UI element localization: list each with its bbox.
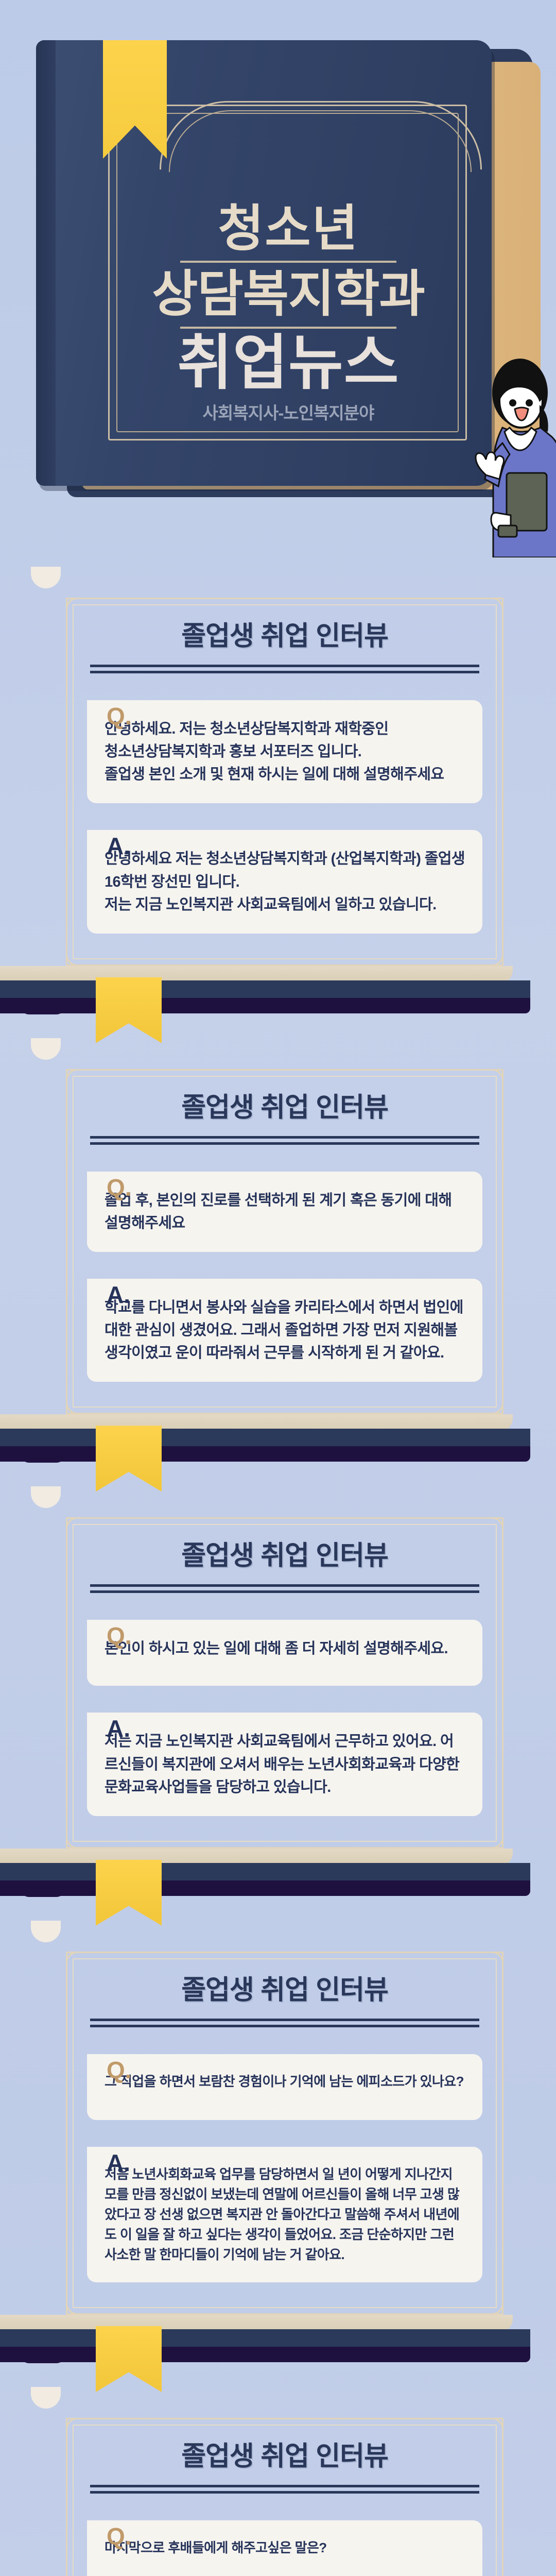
interview-sections: 졸업생 취업 인터뷰 Q. 안녕하세요. 저는 청소년상담복지학과 재학중인 청… xyxy=(0,556,556,2576)
section-frame: 졸업생 취업 인터뷰 Q. 그 직업을 하면서 보람찬 경험이나 기억에 남는 … xyxy=(66,1952,503,2315)
book-bottom xyxy=(0,2315,556,2377)
section-frame: 졸업생 취업 인터뷰 Q. 본인이 하시고 있는 일에 대해 좀 더 자세히 설… xyxy=(66,1517,503,1848)
book-bottom-cover-shadow xyxy=(0,2347,530,2362)
section-heading: 졸업생 취업 인터뷰 xyxy=(87,2442,482,2471)
interview-section: 졸업생 취업 인터뷰 Q. 졸업 후, 본인의 진로를 선택하게 된 계기 혹은… xyxy=(0,1028,556,1477)
interview-section: 졸업생 취업 인터뷰 Q. 본인이 하시고 있는 일에 대해 좀 더 자세히 설… xyxy=(0,1476,556,1910)
section-double-rule xyxy=(90,2019,479,2027)
answer-label: A. xyxy=(107,2151,130,2175)
book-bottom-cover-shadow xyxy=(0,1880,530,1896)
interview-section: 졸업생 취업 인터뷰 Q. 안녕하세요. 저는 청소년상담복지학과 재학중인 청… xyxy=(0,556,556,1028)
book-bottom-notch-top xyxy=(21,2329,65,2347)
question-label: Q. xyxy=(107,1624,132,1648)
book-bottom xyxy=(0,1849,556,1910)
frame-corner-top-left xyxy=(66,1517,91,1543)
section-heading: 졸업생 취업 인터뷰 xyxy=(87,622,482,651)
question-text: 안녕하세요. 저는 청소년상담복지학과 재학중인 청소년상담복지학과 홍보 서포… xyxy=(105,718,465,786)
question-label: Q. xyxy=(107,704,132,728)
frame-corner-top-right xyxy=(478,1069,503,1094)
frame-corner-bottom-left xyxy=(66,2290,91,2315)
answer-bubble: 학교를 다니면서 봉사와 실습을 카리타스에서 하면서 법인에 대한 관심이 생… xyxy=(87,1279,482,1382)
frame-corner-bottom-right xyxy=(478,941,503,966)
answer-bubble: 처음 노년사회화교육 업무를 담당하면서 일 년이 어떻게 지나간지 모를 만큼… xyxy=(87,2147,482,2282)
book-spine-notch xyxy=(31,1921,61,1942)
section-content: 졸업생 취업 인터뷰 Q. 안녕하세요. 저는 청소년상담복지학과 재학중인 청… xyxy=(66,556,503,966)
section-frame: 졸업생 취업 인터뷰 Q. 마지막으로 후배들에게 해주고싶은 말은? A. xyxy=(66,2418,503,2576)
frame-corner-top-left xyxy=(66,2418,91,2443)
section-content: 졸업생 취업 인터뷰 Q. 그 직업을 하면서 보람찬 경험이나 기억에 남는 … xyxy=(66,1910,503,2315)
question-text: 졸업 후, 본인의 진로를 선택하게 된 계기 혹은 동기에 대해 설명해주세요 xyxy=(105,1189,465,1234)
frame-corner-top-right xyxy=(478,1952,503,1977)
cover-divider-2 xyxy=(180,327,396,329)
frame-corner-top-right xyxy=(478,598,503,623)
section-frame: 졸업생 취업 인터뷰 Q. 안녕하세요. 저는 청소년상담복지학과 재학중인 청… xyxy=(66,598,503,966)
book-spine-notch xyxy=(31,567,61,588)
section-heading: 졸업생 취업 인터뷰 xyxy=(87,1093,482,1123)
answer-label: A. xyxy=(107,834,130,858)
book-bottom xyxy=(0,1414,556,1476)
question-bubble: 마지막으로 후배들에게 해주고싶은 말은? xyxy=(87,2520,482,2576)
frame-corner-bottom-left xyxy=(66,1389,91,1414)
frame-corner-top-right xyxy=(478,1517,503,1543)
question-bubble: 졸업 후, 본인의 진로를 선택하게 된 계기 혹은 동기에 대해 설명해주세요 xyxy=(87,1172,482,1252)
book-bottom-notch-top xyxy=(21,1429,65,1446)
question-block: Q. 마지막으로 후배들에게 해주고싶은 말은? xyxy=(87,2520,482,2576)
frame-corner-bottom-left xyxy=(66,941,91,966)
section-double-rule xyxy=(90,2485,479,2494)
answer-block: A. 저는 지금 노인복지관 사회교육팀에서 근무하고 있어요. 어르신들이 복… xyxy=(87,1713,482,1816)
cover-divider-1 xyxy=(180,261,396,263)
answer-block: A. 안녕하세요 저는 청소년상담복지학과 (산업복지학과) 졸업생 16학번 … xyxy=(87,830,482,933)
newsletter-page: 청소년 상담복지학과 취업뉴스 사회복지사-노인복지분야 xyxy=(0,0,556,2576)
frame-corner-top-left xyxy=(66,598,91,623)
question-text: 그 직업을 하면서 보람찬 경험이나 기억에 남는 에피소드가 있나요? xyxy=(105,2072,465,2092)
book-bottom-cover-shadow xyxy=(0,1446,530,1462)
book-bottom-cover-shadow xyxy=(0,998,530,1013)
question-block: Q. 졸업 후, 본인의 진로를 선택하게 된 계기 혹은 동기에 대해 설명해… xyxy=(87,1172,482,1252)
section-double-rule xyxy=(90,665,479,673)
section-content: 졸업생 취업 인터뷰 Q. 마지막으로 후배들에게 해주고싶은 말은? A. xyxy=(66,2377,503,2576)
cover-title-line2: 상담복지학과 xyxy=(21,268,556,320)
question-label: Q. xyxy=(107,2058,132,2082)
question-bubble: 본인이 하시고 있는 일에 대해 좀 더 자세히 설명해주세요. xyxy=(87,1620,482,1686)
book-bottom-notch-top xyxy=(21,980,65,998)
section-heading: 졸업생 취업 인터뷰 xyxy=(87,1541,482,1571)
section-double-rule xyxy=(90,1136,479,1145)
interview-section: 졸업생 취업 인터뷰 Q. 마지막으로 후배들에게 해주고싶은 말은? A. xyxy=(0,2377,556,2576)
question-label: Q. xyxy=(107,1176,132,1199)
answer-text: 학교를 다니면서 봉사와 실습을 카리타스에서 하면서 법인에 대한 관심이 생… xyxy=(105,1296,465,1364)
answer-bubble: 안녕하세요 저는 청소년상담복지학과 (산업복지학과) 졸업생 16학번 장선민… xyxy=(87,830,482,933)
frame-corner-bottom-right xyxy=(478,1823,503,1849)
question-bubble: 그 직업을 하면서 보람찬 경험이나 기억에 남는 에피소드가 있나요? xyxy=(87,2054,482,2120)
cover-character-illustration xyxy=(449,355,556,557)
frame-corner-bottom-right xyxy=(478,1389,503,1414)
question-block: Q. 그 직업을 하면서 보람찬 경험이나 기억에 남는 에피소드가 있나요? xyxy=(87,2054,482,2120)
book-bottom xyxy=(0,966,556,1028)
book-bottom-notch-top xyxy=(21,1863,65,1880)
frame-corner-top-left xyxy=(66,1069,91,1094)
question-block: Q. 안녕하세요. 저는 청소년상담복지학과 재학중인 청소년상담복지학과 홍보… xyxy=(87,700,482,803)
book-spine-notch xyxy=(31,1038,61,1060)
section-heading: 졸업생 취업 인터뷰 xyxy=(87,1976,482,2005)
answer-text: 안녕하세요 저는 청소년상담복지학과 (산업복지학과) 졸업생 16학번 장선민… xyxy=(105,848,465,916)
answer-text: 처음 노년사회화교육 업무를 담당하면서 일 년이 어떻게 지나간지 모를 만큼… xyxy=(105,2164,465,2265)
book-spine-notch xyxy=(31,1486,61,1508)
section-double-rule xyxy=(90,1584,479,1593)
answer-label: A. xyxy=(107,1283,130,1307)
book-spine-notch xyxy=(31,2387,61,2409)
cover-section: 청소년 상담복지학과 취업뉴스 사회복지사-노인복지분야 xyxy=(0,0,556,556)
frame-corner-bottom-right xyxy=(478,2290,503,2315)
interview-section: 졸업생 취업 인터뷰 Q. 그 직업을 하면서 보람찬 경험이나 기억에 남는 … xyxy=(0,1910,556,2377)
frame-corner-bottom-left xyxy=(66,1823,91,1849)
section-content: 졸업생 취업 인터뷰 Q. 졸업 후, 본인의 진로를 선택하게 된 계기 혹은… xyxy=(66,1028,503,1415)
section-frame: 졸업생 취업 인터뷰 Q. 졸업 후, 본인의 진로를 선택하게 된 계기 혹은… xyxy=(66,1069,503,1415)
cover-title-line1: 청소년 xyxy=(21,204,556,253)
question-label: Q. xyxy=(107,2524,132,2548)
question-block: Q. 본인이 하시고 있는 일에 대해 좀 더 자세히 설명해주세요. xyxy=(87,1620,482,1686)
answer-bubble: 저는 지금 노인복지관 사회교육팀에서 근무하고 있어요. 어르신들이 복지관에… xyxy=(87,1713,482,1816)
cover-arch-inner xyxy=(169,110,472,172)
section-content: 졸업생 취업 인터뷰 Q. 본인이 하시고 있는 일에 대해 좀 더 자세히 설… xyxy=(66,1476,503,1848)
frame-corner-top-right xyxy=(478,2418,503,2443)
question-text: 본인이 하시고 있는 일에 대해 좀 더 자세히 설명해주세요. xyxy=(105,1637,465,1660)
frame-corner-top-left xyxy=(66,1952,91,1977)
answer-block: A. 학교를 다니면서 봉사와 실습을 카리타스에서 하면서 법인에 대한 관심… xyxy=(87,1279,482,1382)
question-text: 마지막으로 후배들에게 해주고싶은 말은? xyxy=(105,2538,465,2558)
answer-label: A. xyxy=(107,1717,130,1740)
answer-text: 저는 지금 노인복지관 사회교육팀에서 근무하고 있어요. 어르신들이 복지관에… xyxy=(105,1730,465,1798)
answer-block: A. 처음 노년사회화교육 업무를 담당하면서 일 년이 어떻게 지나간지 모를… xyxy=(87,2147,482,2282)
question-bubble: 안녕하세요. 저는 청소년상담복지학과 재학중인 청소년상담복지학과 홍보 서포… xyxy=(87,700,482,803)
